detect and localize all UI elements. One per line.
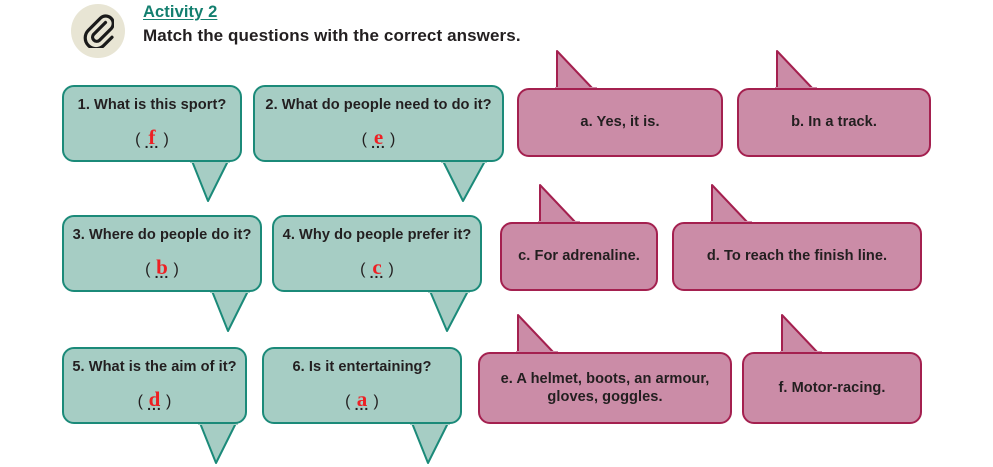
bubble-tail-icon [496,313,562,357]
answer-bubble-c[interactable]: c. For adrenaline. [500,222,658,291]
open-paren: ( [145,262,150,278]
written-answer: e [374,125,383,149]
question-bubble-2[interactable]: 2. What do people need to do it? ( e ...… [253,85,504,162]
answer-blank-5: ( d ... ) [138,389,172,410]
close-paren: ) [164,132,169,148]
page-title: Activity 2 [143,3,217,22]
question-bubble-3[interactable]: 3. Where do people do it? ( b ... ) [62,215,262,292]
close-paren: ) [374,394,379,410]
answer-text: d. To reach the finish line. [707,247,887,265]
bubble-tail-icon [760,313,826,357]
open-paren: ( [360,262,365,278]
close-paren: ) [389,262,394,278]
close-paren: ) [166,394,171,410]
blank-field[interactable]: d ... [145,389,164,410]
answer-text: c. For adrenaline. [518,247,640,265]
bubble-tail-icon [755,49,821,93]
open-paren: ( [345,394,350,410]
answer-blank-2: ( e ... ) [362,127,396,148]
blank-field[interactable]: b ... [153,257,172,278]
bubble-tail-icon [690,183,756,227]
question-text: 5. What is the aim of it? [72,359,236,376]
open-paren: ( [135,132,140,148]
bubble-tail-icon [518,183,584,227]
answer-blank-3: ( b ... ) [145,257,179,278]
blank-field[interactable]: a ... [353,389,372,410]
question-text: 6. Is it entertaining? [293,359,432,376]
written-answer: a [357,387,368,411]
bubble-tail-icon [190,421,250,467]
close-paren: ) [390,132,395,148]
written-answer: d [149,387,161,411]
answer-bubble-a[interactable]: a. Yes, it is. [517,88,723,157]
activity-header: Activity 2 Match the questions with the … [0,0,993,62]
answer-text: a. Yes, it is. [580,113,659,131]
answer-bubble-b[interactable]: b. In a track. [737,88,931,157]
answer-text: b. In a track. [791,113,877,131]
written-answer: f [149,125,156,149]
answer-bubble-f[interactable]: f. Motor-racing. [742,352,922,424]
bubble-tail-icon [182,159,242,205]
bubble-tail-icon [402,421,462,467]
open-paren: ( [138,394,143,410]
paperclip-icon [71,4,125,58]
blank-field[interactable]: f ... [143,127,162,148]
question-bubble-1[interactable]: 1. What is this sport? ( f ... ) [62,85,242,162]
question-text: 1. What is this sport? [78,97,227,114]
bubble-tail-icon [202,289,262,335]
answer-blank-6: ( a ... ) [345,389,379,410]
answer-text: f. Motor-racing. [778,379,885,397]
question-bubble-5[interactable]: 5. What is the aim of it? ( d ... ) [62,347,247,424]
question-text: 2. What do people need to do it? [265,97,491,114]
answer-text: e. A helmet, boots, an armour, gloves, g… [486,370,724,406]
question-bubble-4[interactable]: 4. Why do people prefer it? ( c ... ) [272,215,482,292]
written-answer: b [156,255,168,279]
bubble-tail-icon [535,49,601,93]
answer-blank-1: ( f ... ) [135,127,169,148]
answer-blank-4: ( c ... ) [360,257,394,278]
answer-bubble-d[interactable]: d. To reach the finish line. [672,222,922,291]
blank-field[interactable]: e ... [369,127,388,148]
blank-field[interactable]: c ... [368,257,387,278]
open-paren: ( [362,132,367,148]
question-text: 4. Why do people prefer it? [283,227,472,244]
bubble-tail-icon [420,289,482,335]
bubble-tail-icon [433,159,503,205]
question-bubble-6[interactable]: 6. Is it entertaining? ( a ... ) [262,347,462,424]
activity-instruction: Match the questions with the correct ans… [143,26,521,46]
close-paren: ) [174,262,179,278]
question-text: 3. Where do people do it? [73,227,252,244]
answer-bubble-e[interactable]: e. A helmet, boots, an armour, gloves, g… [478,352,732,424]
written-answer: c [372,255,381,279]
